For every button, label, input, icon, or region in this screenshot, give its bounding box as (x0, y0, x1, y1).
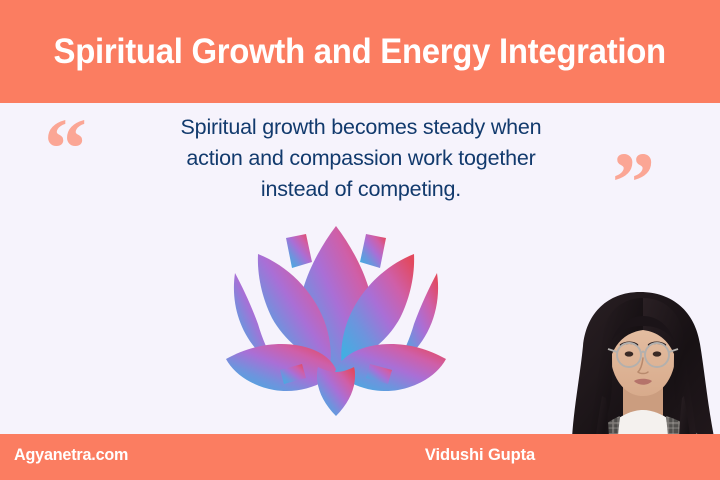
quote-close-icon: ” (612, 139, 655, 225)
quote-text: Spiritual growth becomes steady when act… (118, 112, 604, 205)
footer-bar: Agyanetra.com Vidushi Gupta (0, 434, 720, 480)
slide-canvas: Spiritual Growth and Energy Integration … (0, 0, 720, 480)
footer-presenter-name: Vidushi Gupta (0, 446, 720, 465)
quote-line-3: instead of competing. (118, 174, 604, 205)
quote-line-2: action and compassion work together (118, 143, 604, 174)
quote-block: “ Spiritual growth becomes steady when a… (0, 103, 720, 213)
header-bar: Spiritual Growth and Energy Integration (0, 0, 720, 103)
page-title: Spiritual Growth and Energy Integration (54, 34, 666, 69)
quote-line-1: Spiritual growth becomes steady when (118, 112, 604, 143)
quote-open-icon: “ (44, 105, 87, 191)
lotus-flower-icon (218, 218, 454, 422)
